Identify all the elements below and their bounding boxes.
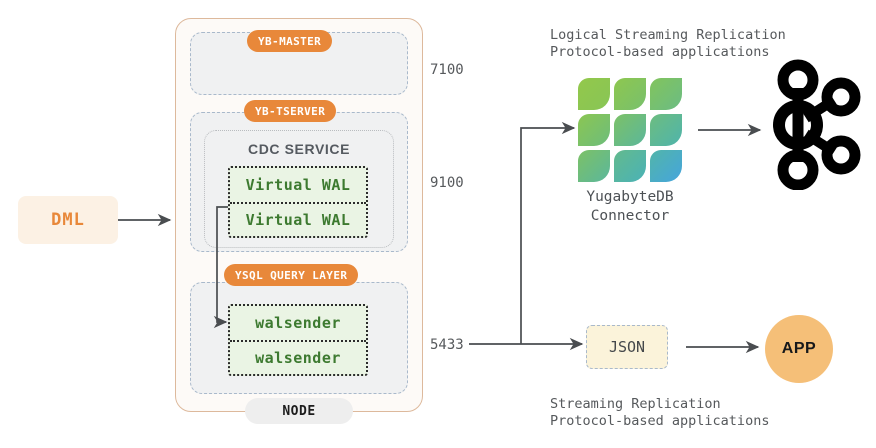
virtual-wal-label: Virtual WAL — [246, 211, 351, 229]
walsender-item: walsender — [230, 340, 366, 374]
walsender-item: walsender — [230, 306, 366, 340]
port-label-9100: 9100 — [430, 175, 464, 191]
walsender-label: walsender — [255, 349, 341, 367]
virtual-wal-label: Virtual WAL — [246, 176, 351, 194]
ysql-query-layer-pill: YSQL QUERY LAYER — [224, 264, 358, 286]
caption-streaming-replication: Streaming Replication Protocol-based app… — [550, 396, 769, 430]
apache-kafka-logo — [768, 58, 864, 190]
port-label-5433: 5433 — [430, 337, 464, 353]
json-label: JSON — [609, 338, 645, 356]
yb-master-pill-label: YB-MASTER — [258, 35, 321, 48]
virtual-wal-stack: Virtual WAL Virtual WAL — [228, 166, 368, 238]
app-label: APP — [782, 340, 816, 358]
arrow-5433-to-connector — [521, 128, 574, 344]
json-box: JSON — [586, 325, 668, 369]
virtual-wal-item: Virtual WAL — [230, 202, 366, 236]
yugabytedb-connector-label: YugabyteDB Connector — [552, 188, 708, 226]
yb-tserver-pill-label: YB-TSERVER — [255, 105, 325, 118]
dml-label: DML — [51, 210, 85, 230]
caption-logical-streaming-replication: Logical Streaming Replication Protocol-b… — [550, 27, 786, 61]
app-circle: APP — [765, 315, 833, 383]
cdc-service-title: CDC SERVICE — [204, 141, 394, 157]
yb-tserver-pill: YB-TSERVER — [244, 100, 336, 122]
diagram-canvas: DML CDC SERVICE Virtual WAL Virtual WAL … — [0, 0, 876, 448]
port-label-7100: 7100 — [430, 62, 464, 78]
walsender-label: walsender — [255, 314, 341, 332]
yugabytedb-logo — [578, 78, 682, 182]
ysql-query-layer-pill-label: YSQL QUERY LAYER — [235, 269, 347, 282]
node-label-pill: NODE — [245, 398, 353, 424]
walsender-stack: walsender walsender — [228, 304, 368, 376]
node-label: NODE — [282, 404, 315, 419]
dml-source-box: DML — [18, 196, 118, 244]
virtual-wal-item: Virtual WAL — [230, 168, 366, 202]
yb-master-pill: YB-MASTER — [247, 30, 332, 52]
